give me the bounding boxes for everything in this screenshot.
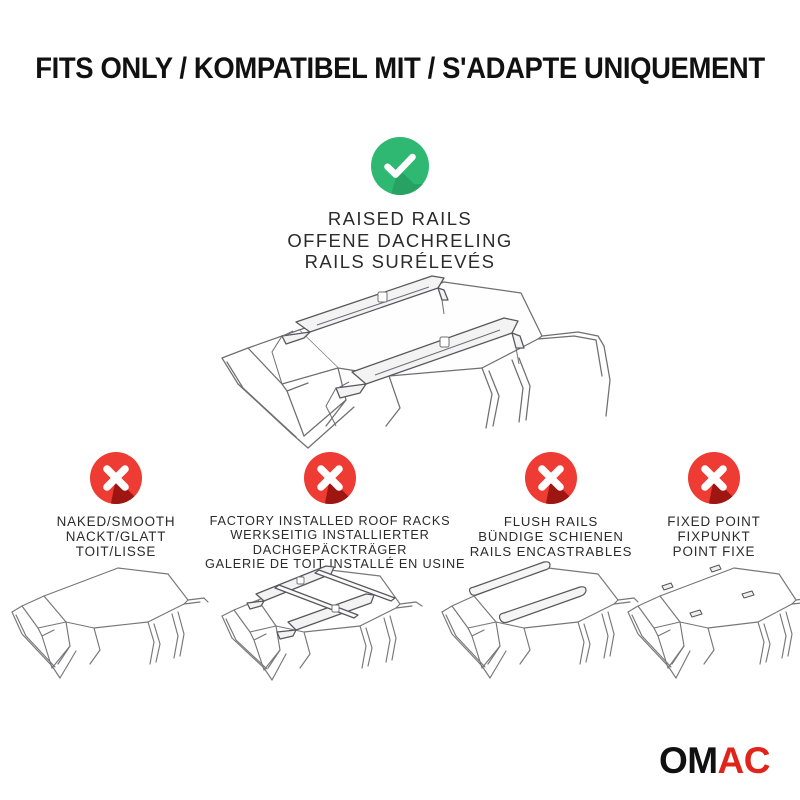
compatible-section: RAISED RAILS OFFENE DACHRELING RAILS SUR… [0,137,800,273]
compatible-labels: RAISED RAILS OFFENE DACHRELING RAILS SUR… [0,208,800,273]
logo-text-ac: AC [718,744,770,778]
label-de: FIXPUNKT [628,529,800,544]
car-roof-bare-illustration [8,556,208,692]
page-title: FITS ONLY / KOMPATIBEL MIT / S'ADAPTE UN… [28,52,772,86]
label-en: NAKED/SMOOTH [10,514,222,529]
compatible-label-de: OFFENE DACHRELING [0,230,800,252]
incompatible-labels: FIXED POINT FIXPUNKT POINT FIXE [628,514,800,560]
compatibility-infographic: FITS ONLY / KOMPATIBEL MIT / S'ADAPTE UN… [0,0,800,800]
omac-logo: OM AC [659,744,770,778]
car-roof-fixed-points-illustration [624,556,800,692]
car-roof-raised-rails-illustration [186,276,616,466]
x-circle-icon [525,452,577,504]
x-circle-icon [688,452,740,504]
incompatible-item-fixed-point: FIXED POINT FIXPUNKT POINT FIXE [628,452,800,560]
x-circle-icon [90,452,142,504]
x-circle-icon [304,452,356,504]
label-en: FACTORY INSTALLED ROOF RACKS [205,514,455,528]
label-de: NACKT/GLATT [10,529,222,544]
check-circle-icon [371,137,429,195]
compatible-label-fr: RAILS SURÉLEVÉS [0,251,800,273]
compatible-label-en: RAISED RAILS [0,208,800,230]
car-roof-factory-crossbars-illustration [214,548,426,692]
incompatible-item-naked-smooth: NAKED/SMOOTH NACKT/GLATT TOIT/LISSE [10,452,222,560]
incompatible-labels: NAKED/SMOOTH NACKT/GLATT TOIT/LISSE [10,514,222,560]
label-de-1: WERKSEITIG INSTALLIERTER [205,528,455,542]
car-roof-flush-rails-illustration [438,556,638,692]
logo-text-om: OM [659,744,718,778]
label-en: FIXED POINT [628,514,800,529]
